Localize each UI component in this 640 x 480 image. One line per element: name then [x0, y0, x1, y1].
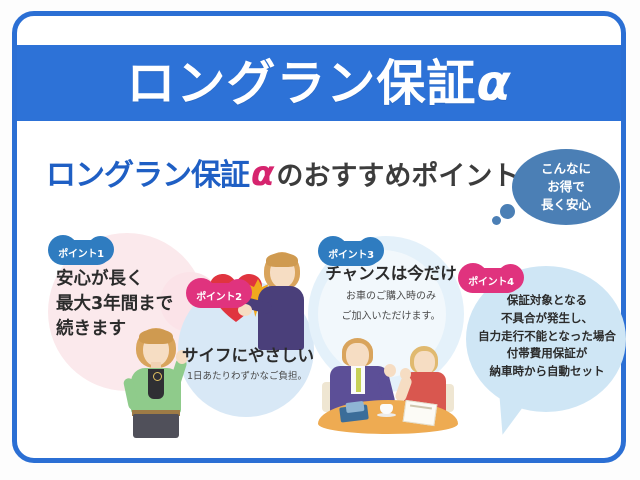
point-3-subtext-2: ご加入いただけます。 — [318, 309, 464, 325]
point-3-subtext-1: お車のご購入時のみ — [318, 289, 464, 305]
top-bubble-tail — [500, 204, 515, 219]
header-band: ロングラン保証α — [17, 45, 621, 121]
point-2-subtext-1: 1日あたりわずかなご負担。 — [182, 370, 312, 384]
point-1-badge: ポイント1 — [52, 240, 110, 265]
document-icon — [403, 400, 438, 426]
point-3-text: チャンスは今だけ お車のご購入時のみ ご加入いただけます。 — [318, 262, 464, 324]
point-4-headline-3: 自力走行不能となった場合 — [472, 328, 622, 346]
subtitle: ロングラン保証αのおすすめポイント — [46, 157, 519, 191]
top-right-speech-bubble: こんなに お得で 長く安心 — [512, 149, 620, 225]
point-4-headline-1: 保証対象となる — [472, 292, 622, 310]
necklace-shape — [153, 372, 162, 381]
top-bubble-line-1: こんなに — [541, 160, 591, 178]
subtitle-tail: のおすすめポイント — [276, 161, 519, 192]
man-tie-shape — [356, 368, 361, 392]
couple-at-table-illustration — [318, 338, 458, 434]
point-1-headline-1: 安心が長く — [56, 267, 173, 292]
point-2-badge: ポイント2 — [190, 283, 248, 308]
skirt-shape — [133, 414, 179, 438]
page-title-alpha: α — [476, 54, 511, 112]
woman-hand-shape — [400, 368, 411, 380]
subtitle-brand: ロングラン保証 — [46, 158, 249, 193]
point-2-text: サイフにやさしい 1日あたりわずかなご負担。 — [182, 344, 312, 384]
point-3-badge: ポイント3 — [322, 241, 380, 266]
top-bubble-line-3: 長く安心 — [541, 196, 591, 214]
point-1-headline-3: 続きます — [56, 317, 173, 342]
point-4-text: 保証対象となる 不具合が発生し、 自力走行不能となった場合 付帯費用保証が 納車… — [472, 292, 622, 381]
point-2-headline-1: サイフにやさしい — [182, 344, 312, 367]
point-4-headline-5: 納車時から自動セット — [472, 363, 622, 381]
top-bubble-line-2: お得で — [547, 178, 585, 196]
purple-top-shape — [258, 286, 304, 350]
poster-canvas: ロングラン保証α ロングラン保証αのおすすめポイント こんなに お得で 長く安心… — [0, 0, 640, 480]
page-title: ロングラン保証α — [126, 58, 511, 108]
hair-fringe-shape — [266, 253, 298, 267]
point-4-headline-4: 付帯費用保証が — [472, 345, 622, 363]
top-bubble-dot — [492, 216, 501, 225]
point-4-headline-2: 不具合が発生し、 — [472, 310, 622, 328]
point-1-text: 安心が長く 最大3年間まで 続きます — [56, 267, 173, 342]
man-hand-shape — [384, 364, 396, 377]
subtitle-alpha: α — [249, 154, 276, 194]
point-1-headline-2: 最大3年間まで — [56, 292, 173, 317]
page-title-main: ロングラン保証 — [126, 55, 476, 112]
point-4-badge: ポイント4 — [462, 268, 520, 293]
